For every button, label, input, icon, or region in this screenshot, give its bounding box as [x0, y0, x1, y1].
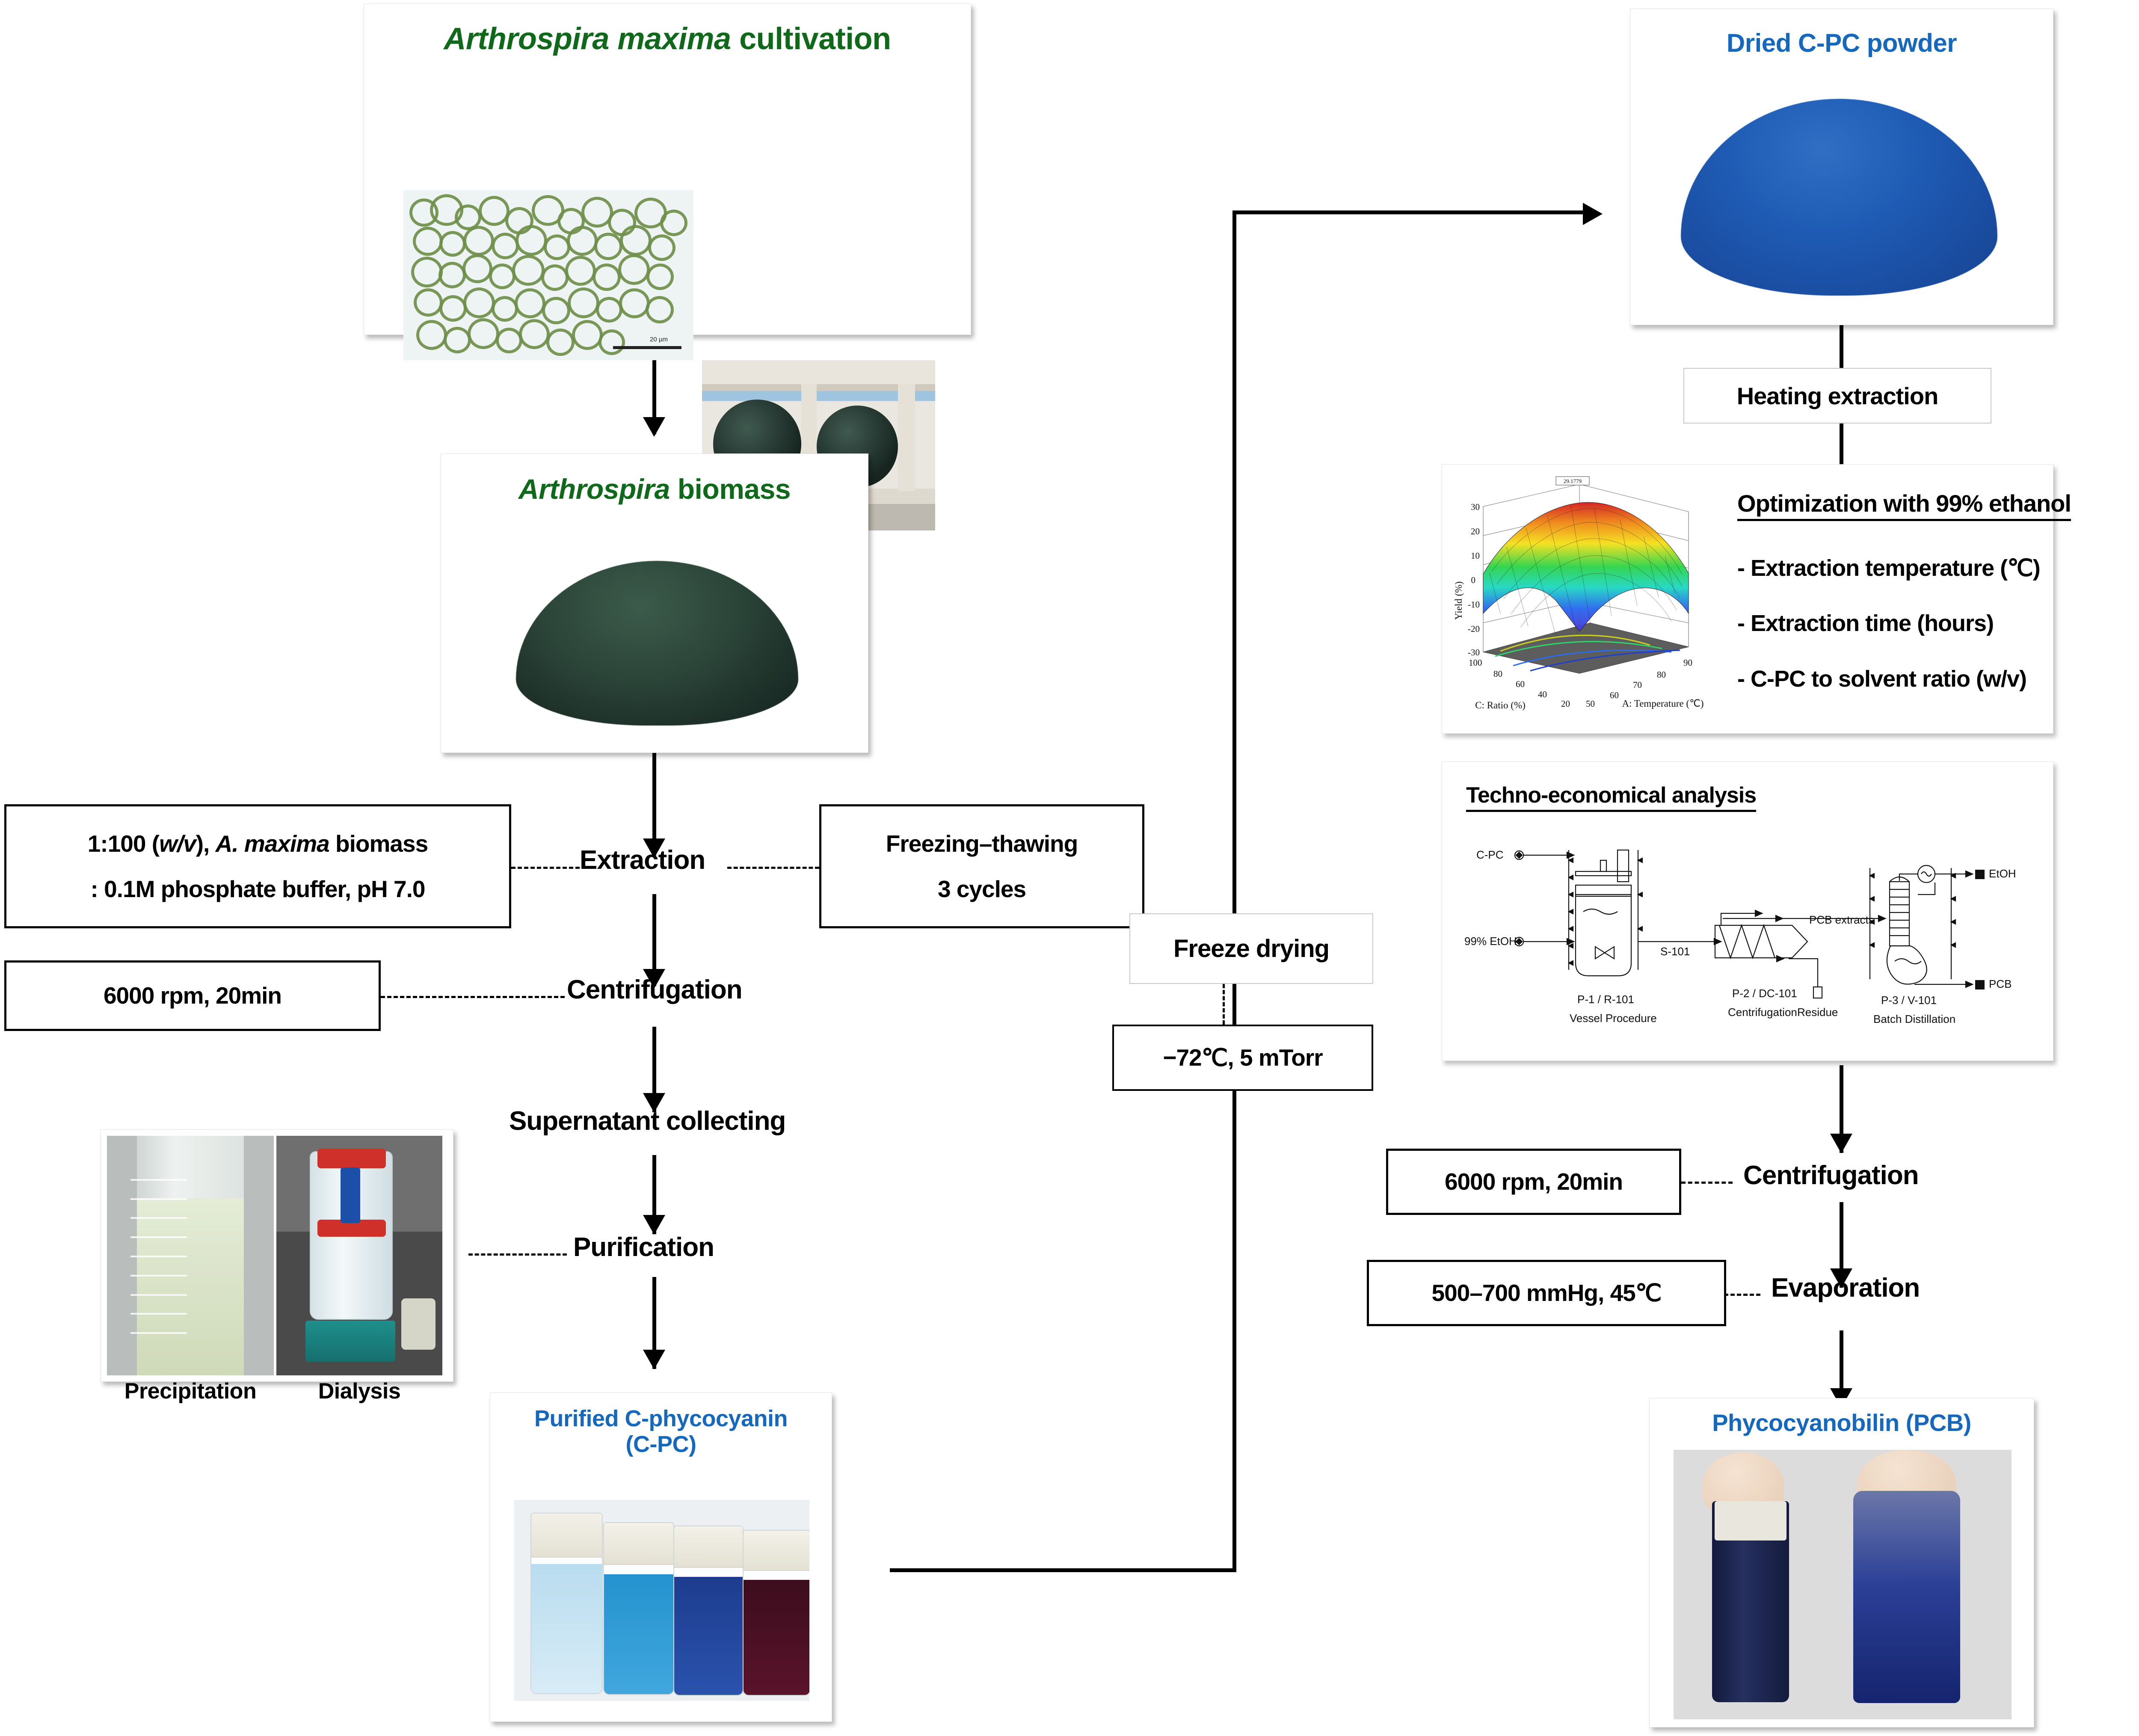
- dashed-link-extraction-params: [511, 867, 580, 869]
- svg-text:-20: -20: [1468, 624, 1480, 634]
- svg-text:80: 80: [1657, 670, 1666, 680]
- step-supernatant-collecting: Supernatant collecting: [509, 1106, 785, 1136]
- vial-cap: [673, 1526, 744, 1568]
- techno-output-etoh: EtOH: [1989, 867, 2016, 880]
- connector-powder-to-heating: [1840, 325, 1843, 374]
- dashed-link-freezing: [727, 867, 819, 869]
- step-centrifugation-right: Centrifugation: [1743, 1160, 1919, 1191]
- response-surface-chart: 29.1779 302010 0-10-20 -30 Yield (%) 100…: [1449, 472, 1723, 725]
- note-extraction-parameters: 1:100 (w/v), A. maxima biomass : 0.1M ph…: [4, 804, 511, 928]
- card-precipitation-dialysis: Precipitation Dialysis: [101, 1129, 453, 1382]
- arrowhead-dried-powder: [1583, 203, 1603, 225]
- cpc-vials-image: [514, 1500, 809, 1701]
- svg-text:10: 10: [1471, 551, 1480, 561]
- panel-techno-economical: Techno-economical analysis: [1442, 761, 2053, 1061]
- stir-plate: [305, 1321, 395, 1362]
- optimization-heading: Optimization with 99% ethanol: [1737, 489, 2071, 521]
- biomass-powder-photo: [516, 561, 798, 726]
- note-freeze-drying-text: Freeze drying: [1173, 934, 1329, 963]
- purified-cpc-title-line2: (C-PC): [490, 1431, 832, 1457]
- vial-liquid: [674, 1577, 743, 1695]
- cultivation-title-species: Arthrospira maxima: [444, 22, 731, 56]
- note-evaporation-params: 500–700 mmHg, 45℃: [1367, 1260, 1726, 1326]
- card-dried-powder: Dried C-PC powder: [1630, 9, 2053, 325]
- vial-liquid: [604, 1574, 673, 1694]
- vial-1: [530, 1513, 603, 1694]
- connector-cpc-elbow-vertical: [1232, 210, 1236, 1572]
- techno-unit-tag-2: P-3 / V-101: [1881, 994, 1937, 1007]
- optimization-bullet-0: - Extraction temperature (℃): [1737, 554, 2040, 581]
- purified-cpc-title: Purified C-phycocyanin (C-PC): [490, 1406, 832, 1458]
- note-heating-extraction-text: Heating extraction: [1737, 382, 1938, 410]
- techno-input-etoh: 99% EtOH: [1464, 935, 1517, 948]
- note-evaporation-text: 500–700 mmHg, 45℃: [1431, 1275, 1661, 1311]
- techno-output-pcb: PCB: [1989, 978, 2012, 990]
- note-heating-extraction: Heating extraction: [1683, 368, 1991, 424]
- techno-flow-svg: C-PC 99% EtOH EtOH PCB S-101 PCB extract…: [1459, 835, 2037, 1049]
- precipitation-caption: Precipitation: [107, 1379, 274, 1404]
- note-ratio-wv: w/v: [159, 830, 196, 857]
- vial-liquid: [744, 1580, 809, 1695]
- svg-text:90: 90: [1683, 658, 1692, 668]
- precipitation-photo: [107, 1136, 274, 1375]
- techno-unit-tag-1: P-2 / DC-101: [1732, 987, 1797, 1000]
- note-ratio-mid: ),: [196, 830, 216, 857]
- techno-stream-pcb-extracts: PCB extracts: [1809, 913, 1874, 926]
- microscopy-image: 20 µm: [403, 190, 693, 360]
- techno-input-cpc: C-PC: [1476, 848, 1504, 861]
- biomass-title-genus: Arthrospira: [518, 473, 670, 505]
- vial-cap: [743, 1530, 809, 1571]
- techno-unit-name-2: Batch Distillation: [1873, 1013, 1955, 1025]
- step-purification: Purification: [573, 1232, 714, 1262]
- connector-elbow-top-to-powder: [1232, 210, 1588, 214]
- biomass-title: Arthrospira biomass: [441, 474, 868, 505]
- note-extraction-line1: 1:100 (w/v), A. maxima biomass: [88, 826, 428, 862]
- pcb-photo: [1674, 1450, 2012, 1719]
- optimization-bullet-2: - C-PC to solvent ratio (w/v): [1737, 666, 2026, 692]
- svg-text:100: 100: [1469, 658, 1482, 668]
- note-freeze-drying: Freeze drying: [1129, 913, 1373, 984]
- techno-heading: Techno-economical analysis: [1466, 782, 1756, 812]
- step-extraction: Extraction: [580, 845, 705, 875]
- note-freeze-drying-params-text: −72℃, 5 mTorr: [1163, 1040, 1322, 1075]
- arrowhead-biomass: [643, 417, 665, 437]
- techno-unit-name-0: Vessel Procedure: [1570, 1012, 1657, 1025]
- purified-cpc-title-line1: Purified C-phycocyanin: [490, 1406, 832, 1431]
- dialysis-caption: Dialysis: [276, 1379, 442, 1404]
- surface-zlabel: Yield (%): [1453, 581, 1464, 620]
- vial-2: [603, 1522, 674, 1695]
- vial-4: [743, 1530, 809, 1696]
- arrowhead-centrifugation-right: [1830, 1134, 1852, 1153]
- dialysis-photo: [276, 1136, 442, 1375]
- panel-optimization: 29.1779 302010 0-10-20 -30 Yield (%) 100…: [1442, 464, 2053, 734]
- svg-text:50: 50: [1586, 699, 1595, 709]
- svg-text:30: 30: [1471, 502, 1480, 512]
- dashed-link-evaporation: [1724, 1294, 1760, 1296]
- svg-text:0: 0: [1471, 575, 1476, 585]
- svg-text:20: 20: [1471, 526, 1480, 536]
- dashed-link-purification: [468, 1253, 567, 1256]
- card-biomass: Arthrospira biomass: [441, 453, 868, 753]
- note-freezing-line2: 3 cycles: [938, 871, 1026, 907]
- note-freezing-thawing: Freezing–thawing 3 cycles: [819, 804, 1144, 928]
- note-species: A. maxima: [216, 830, 329, 857]
- dialysis-caption-text: Dialysis: [318, 1379, 401, 1404]
- card-pcb: Phycocyanobilin (PCB): [1649, 1398, 2034, 1727]
- svg-text:80: 80: [1493, 669, 1502, 679]
- surface-xlabel: A: Temperature (℃): [1622, 698, 1703, 709]
- note-freezing-line1: Freezing–thawing: [886, 826, 1078, 862]
- svg-text:60: 60: [1516, 679, 1525, 689]
- svg-text:-30: -30: [1468, 647, 1480, 658]
- techno-stream-residue: Residue: [1797, 1006, 1838, 1019]
- vial-3: [673, 1526, 744, 1696]
- techno-stream-s101: S-101: [1660, 945, 1690, 958]
- biomass-title-rest: biomass: [670, 473, 791, 505]
- svg-text:-10: -10: [1468, 599, 1480, 610]
- cultivation-title: Arthrospira maxima cultivation: [364, 22, 971, 56]
- note-centrifuge-left-text: 6000 rpm, 20min: [104, 978, 281, 1013]
- techno-unit-tag-0: P-1 / R-101: [1577, 993, 1634, 1006]
- note-freeze-drying-params: −72℃, 5 mTorr: [1112, 1025, 1373, 1091]
- dried-powder-title: Dried C-PC powder: [1630, 29, 2053, 57]
- dried-powder-photo: [1681, 99, 1997, 296]
- techno-unit-name-1: Centrifugation: [1728, 1006, 1797, 1019]
- dashed-link-freeze-drying: [1223, 984, 1225, 1025]
- svg-text:60: 60: [1610, 690, 1619, 700]
- note-centrifuge-left-params: 6000 rpm, 20min: [4, 960, 381, 1031]
- scale-bar: [613, 346, 681, 349]
- svg-text:40: 40: [1538, 689, 1547, 699]
- surface-plot-svg: 29.1779 302010 0-10-20 -30 Yield (%) 100…: [1449, 472, 1723, 725]
- step-evaporation: Evaporation: [1771, 1273, 1920, 1303]
- connector-heating-to-optimization: [1840, 419, 1843, 464]
- figure-canvas: Arthrospira maxima cultivation: [0, 0, 2139, 1736]
- step-centrifugation-left: Centrifugation: [567, 975, 742, 1005]
- arrowhead-cpc: [643, 1350, 665, 1369]
- note-ratio-prefix: 1:100 (: [88, 830, 159, 857]
- dashed-link-centrifuge-right: [1681, 1182, 1733, 1184]
- card-cultivation: Arthrospira maxima cultivation: [364, 3, 971, 335]
- surface-ylabel: C: Ratio (%): [1475, 700, 1526, 711]
- note-centrifuge-right-params: 6000 rpm, 20min: [1386, 1149, 1681, 1215]
- connector-cpc-elbow-bottom: [890, 1568, 1236, 1572]
- vial-cap: [603, 1522, 674, 1565]
- svg-text:70: 70: [1633, 680, 1642, 690]
- surface-peak-label: 29.1779: [1564, 478, 1582, 484]
- precipitation-caption-text: Precipitation: [124, 1379, 256, 1404]
- dialysis-cap-top: [317, 1149, 386, 1168]
- svg-text:20: 20: [1561, 699, 1570, 709]
- vial-liquid: [531, 1564, 602, 1693]
- cultivation-title-rest: cultivation: [731, 22, 891, 56]
- pcb-title: Phycocyanobilin (PCB): [1650, 1410, 2034, 1437]
- note-extraction-line2: : 0.1M phosphate buffer, pH 7.0: [91, 871, 425, 907]
- optimization-bullet-1: - Extraction time (hours): [1737, 610, 1994, 637]
- dashed-link-centrifuge-left: [381, 996, 565, 998]
- note-ratio-suffix: biomass: [329, 830, 428, 857]
- card-purified-cpc: Purified C-phycocyanin (C-PC): [490, 1392, 832, 1722]
- note-centrifuge-right-text: 6000 rpm, 20min: [1445, 1164, 1623, 1200]
- scale-bar-label: 20 µm: [650, 336, 668, 343]
- vial-cap: [530, 1513, 603, 1558]
